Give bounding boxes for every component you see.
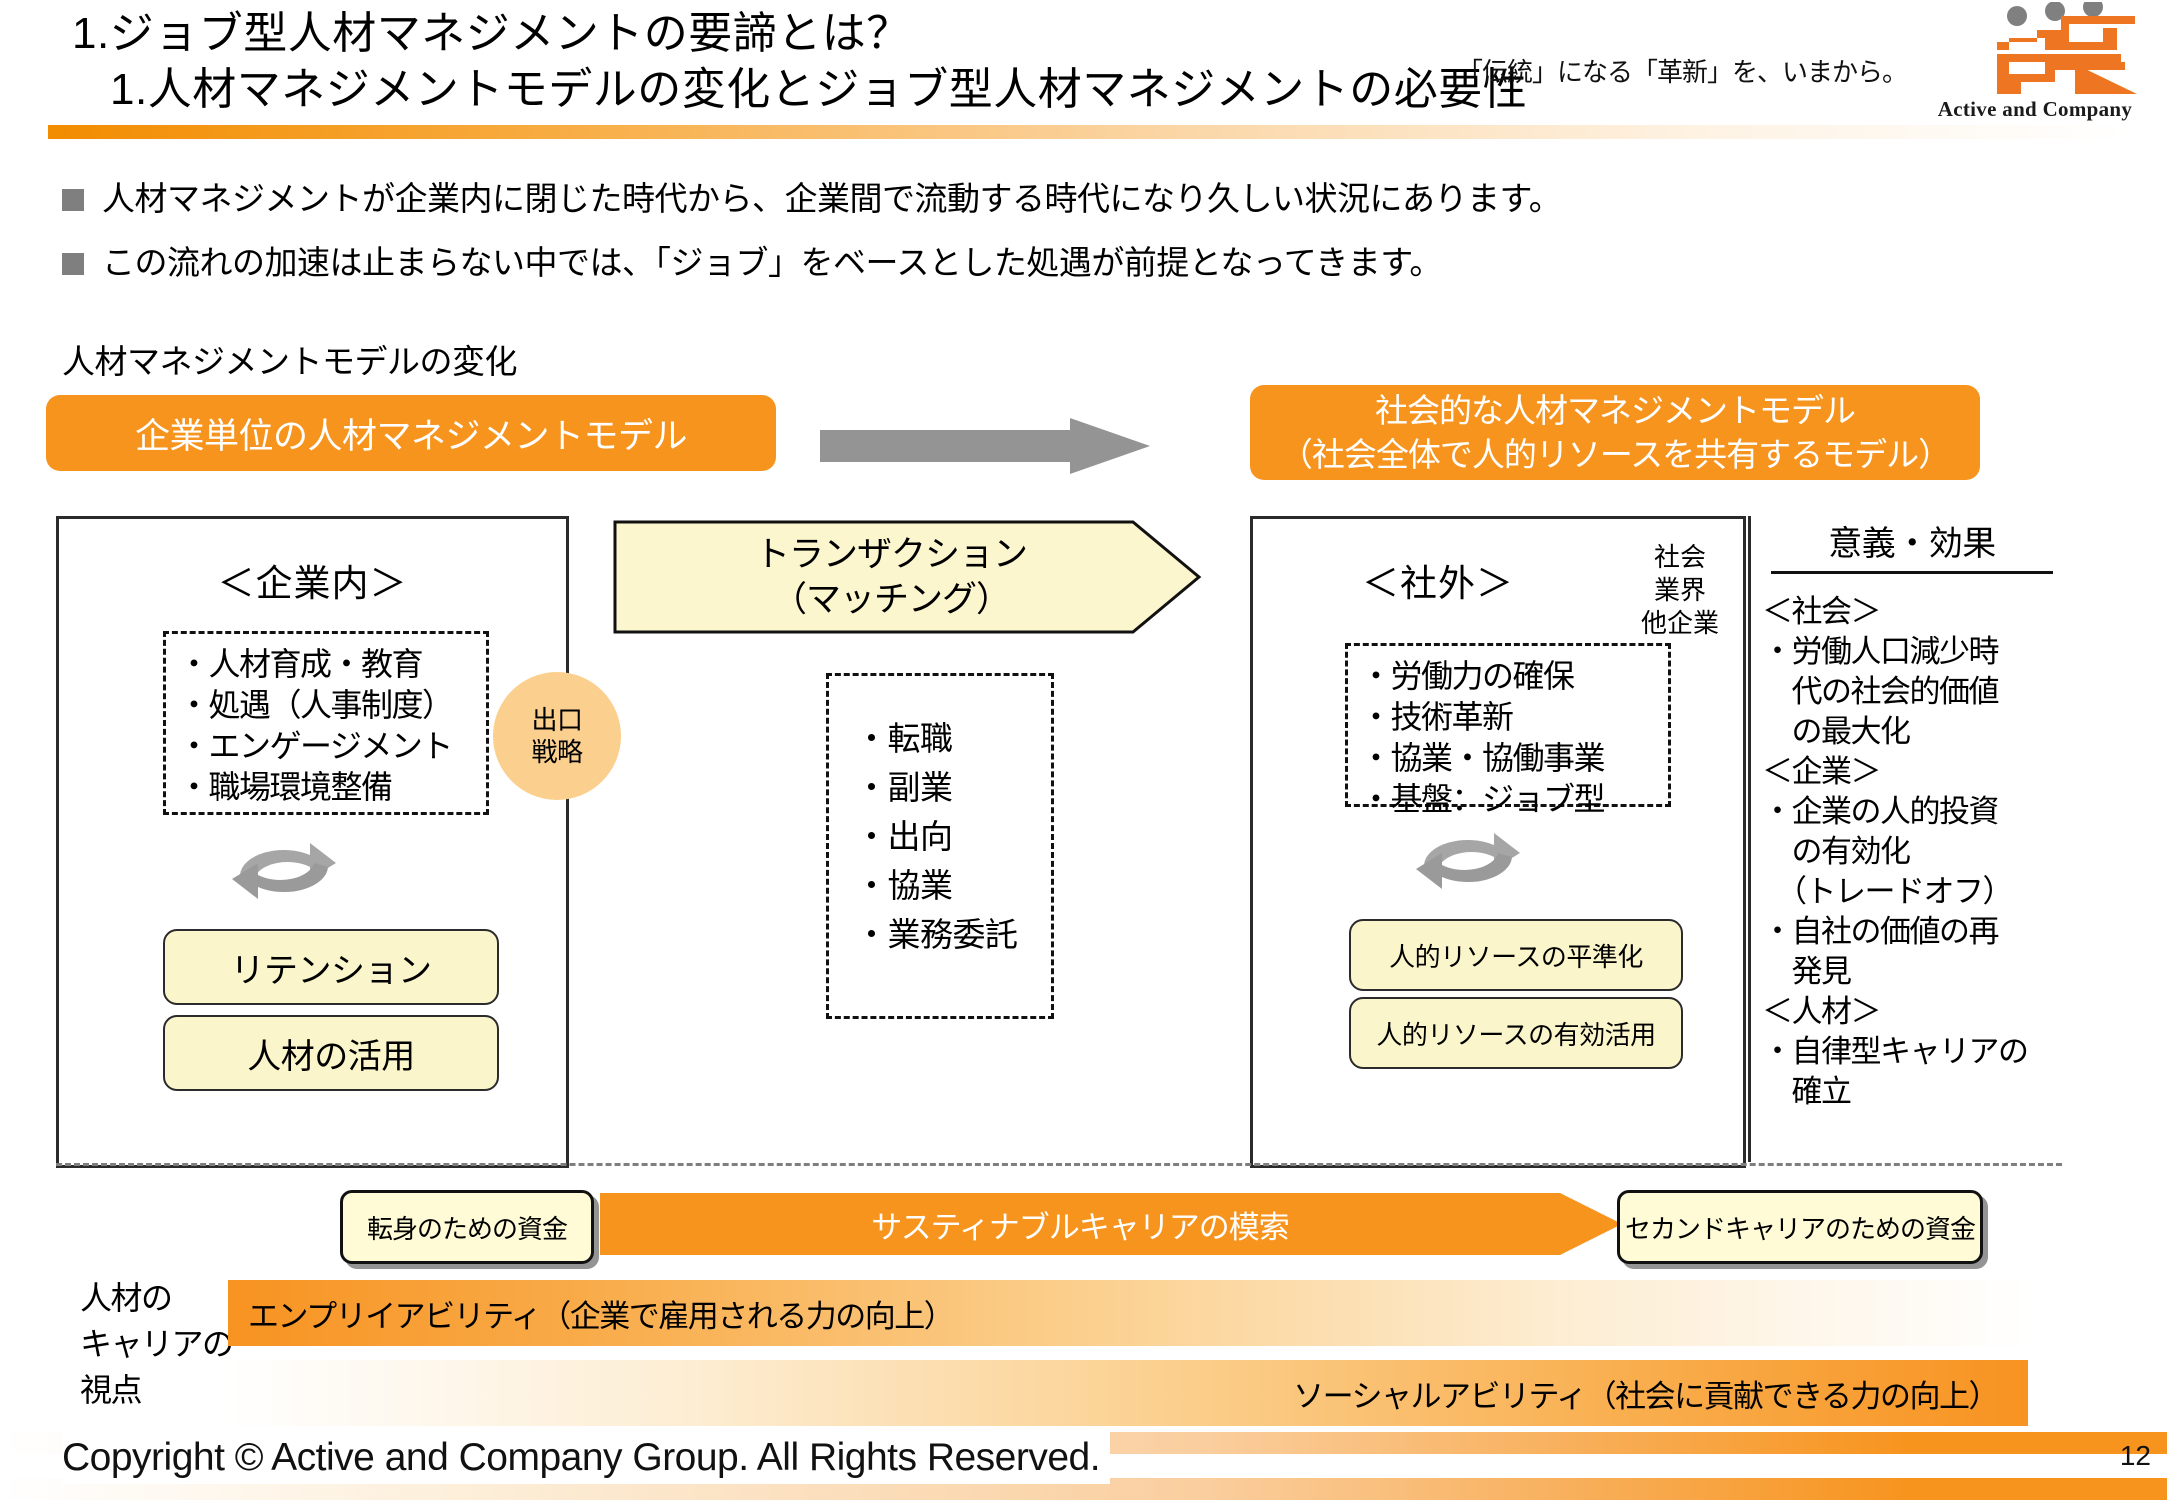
transaction-types-box: ・転職 ・副業 ・出向 ・協業 ・業務委託 <box>826 673 1054 1019</box>
career-label-line2: キャリアの <box>80 1321 233 1367</box>
square-bullet-icon <box>62 253 84 275</box>
effects-line: ・労働人口減少時 <box>1762 632 2062 672</box>
effects-body: ＜社会＞ ・労働人口減少時 代の社会的価値 の最大化 ＜企業＞ ・企業の人的投資… <box>1762 592 2062 1112</box>
bullet-list: 人材マネジメントが企業内に閉じた時代から、企業間で流動する時代になり久しい状況に… <box>62 178 2062 306</box>
title-line-2: 1.人材マネジメントモデルの変化とジョブ型人材マネジメントの必要性 <box>110 62 1552 118</box>
effects-line: ＜人材＞ <box>1762 992 2062 1032</box>
chip-talent-utilization: 人材の活用 <box>163 1015 499 1091</box>
cycle-arrows-icon <box>1408 819 1528 903</box>
section-label: 人材マネジメントモデルの変化 <box>62 335 517 383</box>
hh-logo-icon <box>1925 2 2145 102</box>
effects-title: 意義・効果 <box>1762 516 2062 565</box>
company-tagline: 「伝統」になる「革新」を、いまから。 <box>1457 52 1907 89</box>
effects-line: ・自律型キャリアの <box>1762 1032 2062 1072</box>
sustainable-career-arrow: サスティナブルキャリアの模索 <box>600 1193 1622 1255</box>
effects-line: の有効化 <box>1762 832 2062 872</box>
list-item: ・転職 <box>855 714 1051 763</box>
career-label-line3: 視点 <box>80 1367 233 1413</box>
model-header-right: 社会的な人材マネジメントモデル （社会全体で人的リソースを共有するモデル） <box>1250 385 1980 480</box>
external-scope-note: 社会 業界 他企業 <box>1641 541 1719 640</box>
scope-line-2: 業界 <box>1641 574 1719 607</box>
panel-title-internal: ＜企業内＞ <box>59 553 566 607</box>
career-label-line1: 人材の <box>80 1275 233 1321</box>
list-item: ・基盤：ジョブ型 <box>1360 779 1668 820</box>
square-bullet-icon <box>62 189 84 211</box>
list-item: ・労働力の確保 <box>1360 656 1668 697</box>
transaction-title: トランザクション （マッチング） <box>613 520 1169 634</box>
chip-retention: リテンション <box>163 929 499 1005</box>
effects-line: ＜社会＞ <box>1762 592 2062 632</box>
scope-line-3: 他企業 <box>1641 607 1719 640</box>
exit-strategy-badge: 出口 戦略 <box>493 672 621 800</box>
social-ability-bar: ソーシャルアビリティ（社会に貢献できる力の向上） <box>228 1360 2028 1426</box>
list-item: ・協業・協働事業 <box>1360 738 1668 779</box>
effects-line: ・自社の価値の再 <box>1762 912 2062 952</box>
career-perspective-label: 人材の キャリアの 視点 <box>80 1275 233 1413</box>
chip-label: リテンション <box>231 943 432 992</box>
effects-line: 代の社会的価値 <box>1762 672 2062 712</box>
list-item: ・処遇（人事制度） <box>178 685 486 726</box>
scope-line-1: 社会 <box>1641 541 1719 574</box>
title-divider <box>48 125 2128 139</box>
effects-line: ・企業の人的投資 <box>1762 792 2062 832</box>
effects-line: （トレードオフ） <box>1762 872 2062 912</box>
chip-label: 人的リソースの平準化 <box>1389 937 1643 974</box>
effects-line: 発見 <box>1762 952 2062 992</box>
internal-activities-box: ・人材育成・教育 ・処遇（人事制度） ・エンゲージメント ・職場環境整備 <box>163 631 489 815</box>
list-item: ・エンゲージメント <box>178 726 486 767</box>
effects-line: の最大化 <box>1762 712 2062 752</box>
external-society-panel: ＜社外＞ 社会 業界 他企業 ・労働力の確保 ・技術革新 ・協業・協働事業 ・基… <box>1250 516 1746 1168</box>
list-item: ・人材育成・教育 <box>178 644 486 685</box>
list-item: ・協業 <box>855 861 1051 910</box>
copyright-text: Copyright © Active and Company Group. Al… <box>62 1432 1110 1484</box>
model-header-right-line2: （社会全体で人的リソースを共有するモデル） <box>1280 433 1950 477</box>
bullet-item: この流れの加速は止まらない中では、「ジョブ」をベースとした処遇が前提となってきま… <box>62 242 2062 284</box>
chip-label: 人的リソースの有効活用 <box>1376 1015 1655 1052</box>
section-separator <box>56 1163 2062 1166</box>
title-line-1: 1.ジョブ型人材マネジメントの要諦とは？ <box>72 6 1552 62</box>
internal-company-panel: ＜企業内＞ ・人材育成・教育 ・処遇（人事制度） ・エンゲージメント ・職場環境… <box>56 516 569 1168</box>
chip-resource-leveling: 人的リソースの平準化 <box>1349 919 1683 991</box>
effects-divider <box>1748 516 1751 1162</box>
effects-underline <box>1771 571 2053 574</box>
slide: 1.ジョブ型人材マネジメントの要諦とは？ 1.人材マネジメントモデルの変化とジョ… <box>0 0 2167 1500</box>
bullet-text: 人材マネジメントが企業内に閉じた時代から、企業間で流動する時代になり久しい状況に… <box>102 178 1561 220</box>
exit-strategy-line2: 戦略 <box>531 736 582 768</box>
list-item: ・業務委託 <box>855 910 1051 959</box>
fund-chip-second-career: セカンドキャリアのための資金 <box>1617 1190 1983 1264</box>
transaction-title-line2: （マッチング） <box>772 577 1010 622</box>
transaction-chevron: トランザクション （マッチング） <box>613 520 1203 634</box>
list-item: ・副業 <box>855 763 1051 812</box>
bullet-text: この流れの加速は止まらない中では、「ジョブ」をベースとした処遇が前提となってきま… <box>102 242 1442 284</box>
bullet-item: 人材マネジメントが企業内に閉じた時代から、企業間で流動する時代になり久しい状況に… <box>62 178 2062 220</box>
chip-label: 人材の活用 <box>247 1029 415 1078</box>
list-item: ・出向 <box>855 812 1051 861</box>
list-item: ・職場環境整備 <box>178 767 486 808</box>
exit-strategy-line1: 出口 <box>531 704 582 736</box>
sustainable-career-label: サスティナブルキャリアの模索 <box>600 1193 1560 1255</box>
effects-line: 確立 <box>1762 1072 2062 1112</box>
model-header-left: 企業単位の人材マネジメントモデル <box>46 395 776 471</box>
external-activities-box: ・労働力の確保 ・技術革新 ・協業・協働事業 ・基盤：ジョブ型 <box>1345 643 1671 807</box>
effects-column: 意義・効果 ＜社会＞ ・労働人口減少時 代の社会的価値 の最大化 ＜企業＞ ・企… <box>1762 516 2062 1112</box>
panel-title-external: ＜社外＞ <box>1253 553 1623 607</box>
page-title: 1.ジョブ型人材マネジメントの要諦とは？ 1.人材マネジメントモデルの変化とジョ… <box>72 6 1552 118</box>
list-item: ・技術革新 <box>1360 697 1668 738</box>
chip-resource-utilization: 人的リソースの有効活用 <box>1349 997 1683 1069</box>
cycle-arrows-icon <box>224 829 344 913</box>
transition-arrow-icon <box>820 418 1150 474</box>
model-header-right-line1: 社会的な人材マネジメントモデル <box>1280 389 1950 433</box>
fund-chip-transition: 転身のための資金 <box>340 1190 594 1264</box>
transaction-title-line1: トランザクション <box>755 532 1027 577</box>
company-logo: Active and Company <box>1925 2 2145 122</box>
page-number: 12 <box>2120 1440 2151 1472</box>
logo-company-name: Active and Company <box>1925 97 2145 122</box>
employability-bar: エンプリイアビリティ（企業で雇用される力の向上） <box>228 1280 2028 1346</box>
effects-line: ＜企業＞ <box>1762 752 2062 792</box>
